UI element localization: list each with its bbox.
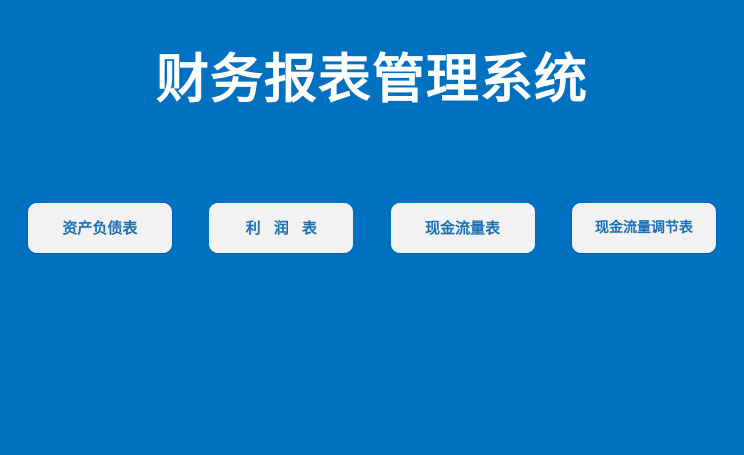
income-statement-button[interactable]: 利 润 表: [209, 203, 353, 253]
balance-sheet-button[interactable]: 资产负债表: [28, 203, 172, 253]
cash-flow-adjustment-button[interactable]: 现金流量调节表: [572, 203, 716, 253]
report-button-row: 资产负债表 利 润 表 现金流量表 现金流量调节表: [28, 203, 716, 253]
income-statement-button-label: 利 润 表: [242, 219, 321, 237]
cash-flow-statement-button[interactable]: 现金流量表: [391, 203, 535, 253]
balance-sheet-button-label: 资产负债表: [62, 219, 137, 237]
cash-flow-statement-button-label: 现金流量表: [425, 219, 500, 237]
cash-flow-adjustment-button-label: 现金流量调节表: [595, 219, 693, 237]
empty-content-area: [0, 265, 744, 455]
application-window: 财务报表管理系统 资产负债表 利 润 表 现金流量表 现金流量调节表: [0, 0, 744, 455]
page-title: 财务报表管理系统: [156, 50, 588, 110]
title-container: 财务报表管理系统: [0, 50, 744, 110]
